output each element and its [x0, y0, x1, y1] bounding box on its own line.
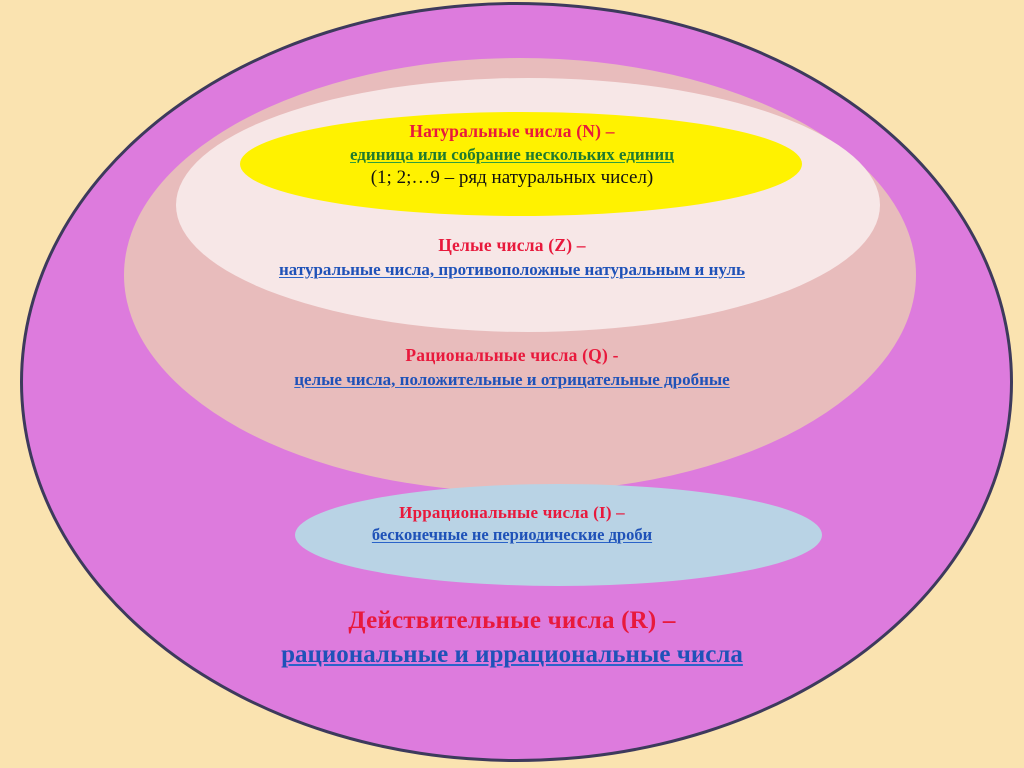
real-heading-text: Действительные числа (R) – [348, 607, 675, 634]
rational-definition-text: целые числа, положительные и отрицательн… [294, 370, 729, 389]
irrational-heading-prefix: Иррациональные числа ( [399, 503, 599, 522]
irrational-definition-line: бесконечные не периодические дроби [0, 526, 1024, 544]
rational-heading-text: Рациональные числа (Q) - [405, 345, 618, 365]
label-real-numbers: Действительные числа (R) – рациональные … [0, 607, 1024, 675]
label-integer-numbers: Целые числа (Z) – натуральные числа, про… [0, 236, 1024, 283]
natural-heading-text: Натуральные числа (N) – [409, 121, 614, 141]
natural-definition-text: единица или собрание нескольких единиц [350, 145, 674, 164]
natural-heading-line: Натуральные числа (N) – [0, 122, 1024, 142]
integer-heading-line: Целые числа (Z) – [0, 236, 1024, 256]
integer-definition-line: натуральные числа, противоположные натур… [0, 260, 1024, 279]
diagram-canvas: Натуральные числа (N) – единица или собр… [0, 0, 1024, 768]
label-rational-numbers: Рациональные числа (Q) - целые числа, по… [0, 346, 1024, 393]
integer-definition-text: натуральные числа, противоположные натур… [279, 260, 745, 279]
irrational-set-symbol-icon: I [599, 503, 606, 522]
natural-sequence-text: (1; 2;…9 – ряд натуральных чисел) [371, 167, 654, 188]
rational-definition-line: целые числа, положительные и отрицательн… [0, 370, 1024, 389]
real-heading-line: Действительные числа (R) – [0, 607, 1024, 635]
rational-heading-line: Рациональные числа (Q) - [0, 346, 1024, 366]
irrational-definition-text: бесконечные не периодические дроби [372, 525, 652, 544]
irrational-heading-suffix: ) – [606, 503, 625, 522]
natural-definition-line: единица или собрание нескольких единиц [0, 145, 1024, 164]
irrational-heading-line: Иррациональные числа (I) – [0, 503, 1024, 522]
integer-heading-text: Целые числа (Z) – [438, 235, 586, 255]
real-definition-text: рациональные и иррациональные числа [281, 641, 743, 668]
natural-sequence-line: (1; 2;…9 – ряд натуральных чисел) [0, 167, 1024, 188]
label-irrational-numbers: Иррациональные числа (I) – бесконечные н… [0, 503, 1024, 549]
label-natural-numbers: Натуральные числа (N) – единица или собр… [0, 122, 1024, 191]
real-definition-line: рациональные и иррациональные числа [0, 641, 1024, 669]
